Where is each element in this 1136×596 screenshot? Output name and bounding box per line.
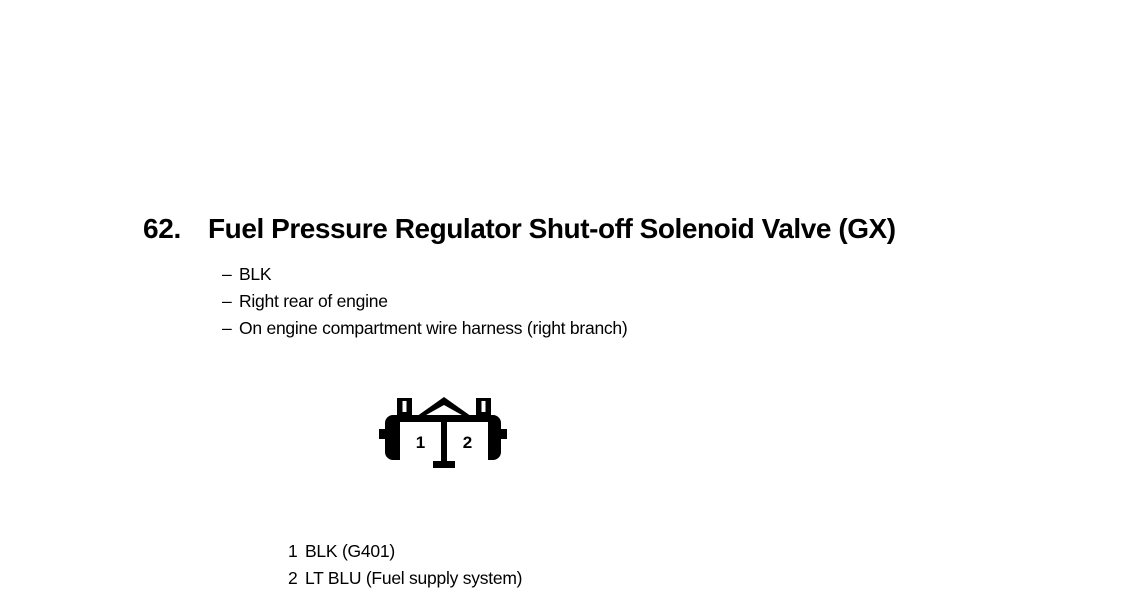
pin-number-1: 1 bbox=[416, 433, 425, 452]
connector-illustration: 1 2 bbox=[371, 388, 517, 484]
dash-bullet: – bbox=[222, 315, 239, 342]
pin-number-2: 2 bbox=[463, 433, 472, 452]
pin-legend-number: 1 bbox=[288, 538, 305, 565]
section-number: 62. bbox=[143, 212, 181, 246]
section-heading: 62. Fuel Pressure Regulator Shut-off Sol… bbox=[143, 212, 896, 246]
description-item: –BLK bbox=[222, 261, 628, 288]
page-title: Fuel Pressure Regulator Shut-off Solenoi… bbox=[208, 212, 896, 246]
locking-tab-right-slot bbox=[482, 401, 486, 412]
description-item-label: Right rear of engine bbox=[239, 291, 388, 311]
description-item: –Right rear of engine bbox=[222, 288, 628, 315]
locking-tab-left-slot bbox=[403, 401, 407, 412]
pin-legend-row: 2LT BLU (Fuel supply system) bbox=[288, 565, 522, 592]
dash-bullet: – bbox=[222, 288, 239, 315]
description-item-label: BLK bbox=[239, 264, 271, 284]
pin-legend-number: 2 bbox=[288, 565, 305, 592]
pin-legend-text: BLK (G401) bbox=[305, 541, 395, 561]
description-list: –BLK –Right rear of engine –On engine co… bbox=[222, 261, 628, 342]
pin-legend-text: LT BLU (Fuel supply system) bbox=[305, 568, 522, 588]
pin-legend-row: 1BLK (G401) bbox=[288, 538, 522, 565]
document-page: 62. Fuel Pressure Regulator Shut-off Sol… bbox=[0, 0, 1136, 596]
description-item: –On engine compartment wire harness (rig… bbox=[222, 315, 628, 342]
dash-bullet: – bbox=[222, 261, 239, 288]
pin-legend: 1BLK (G401) 2LT BLU (Fuel supply system) bbox=[288, 538, 522, 592]
description-item-label: On engine compartment wire harness (righ… bbox=[239, 318, 628, 338]
connector-diagram: 1 2 bbox=[371, 388, 517, 484]
